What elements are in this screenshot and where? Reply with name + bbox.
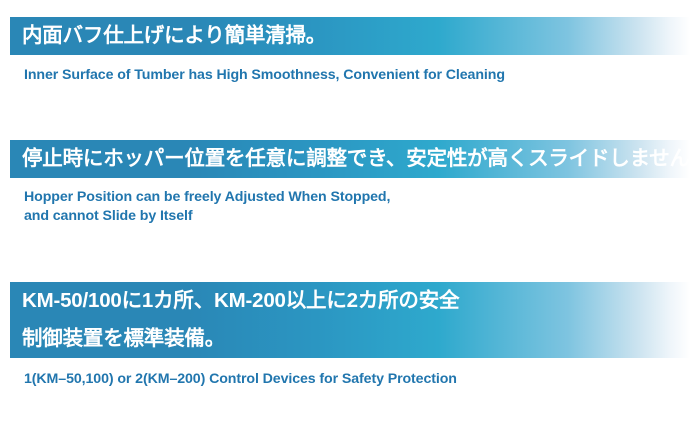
feature-banner: 内面バフ仕上げにより簡単清掃。 — [10, 17, 690, 55]
feature-list-page: 内面バフ仕上げにより簡単清掃。 Inner Surface of Tumber … — [0, 0, 699, 426]
feature-block-safety-control-devices: KM-50/100に1カ所、KM-200以上に2カ所の安全 制御装置を標準装備。… — [0, 282, 699, 389]
feature-subtitle: Hopper Position can be freely Adjusted W… — [0, 188, 699, 226]
feature-block-inner-surface-smoothness: 内面バフ仕上げにより簡単清掃。 Inner Surface of Tumber … — [0, 17, 699, 85]
feature-banner: 停止時にホッパー位置を任意に調整でき、安定性が高くスライドしません。 — [10, 140, 690, 178]
feature-subtitle-line: and cannot Slide by Itself — [24, 207, 699, 226]
feature-subtitle-line: 1(KM–50,100) or 2(KM–200) Control Device… — [24, 370, 699, 389]
feature-headline-line: 制御装置を標準装備。 — [10, 320, 690, 358]
feature-headline-line: 停止時にホッパー位置を任意に調整でき、安定性が高くスライドしません。 — [10, 149, 690, 170]
feature-headline-line: 内面バフ仕上げにより簡単清掃。 — [10, 26, 690, 47]
feature-headline-line: KM-50/100に1カ所、KM-200以上に2カ所の安全 — [10, 282, 690, 320]
feature-subtitle: Inner Surface of Tumber has High Smoothn… — [0, 66, 699, 85]
feature-subtitle-line: Hopper Position can be freely Adjusted W… — [24, 188, 699, 207]
feature-subtitle: 1(KM–50,100) or 2(KM–200) Control Device… — [0, 370, 699, 389]
feature-banner: KM-50/100に1カ所、KM-200以上に2カ所の安全 制御装置を標準装備。 — [10, 282, 690, 358]
feature-subtitle-line: Inner Surface of Tumber has High Smoothn… — [24, 66, 699, 85]
feature-block-hopper-position-adjust: 停止時にホッパー位置を任意に調整でき、安定性が高くスライドしません。 Hoppe… — [0, 140, 699, 226]
